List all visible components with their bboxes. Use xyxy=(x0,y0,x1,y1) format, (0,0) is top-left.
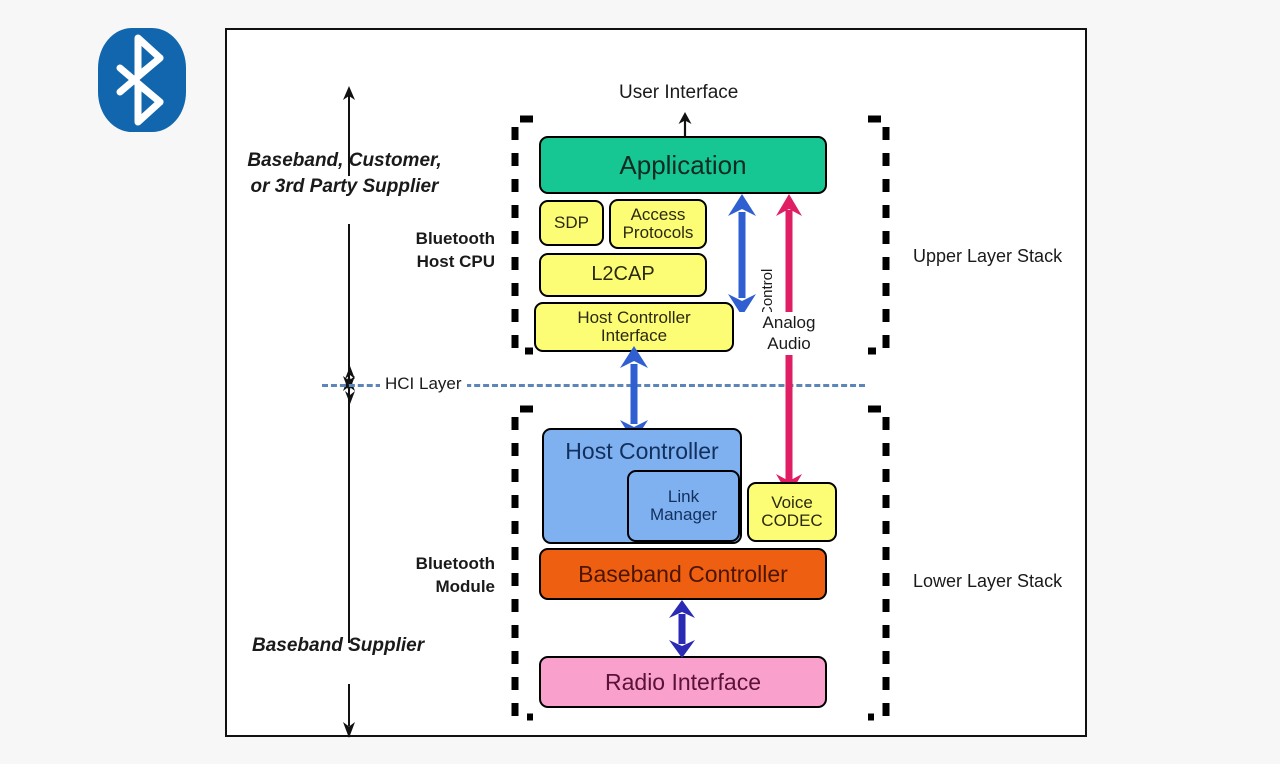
analog-audio-line2: Audio xyxy=(739,333,839,354)
bluetooth-rune-icon xyxy=(98,28,186,132)
box-link-manager[interactable]: Link Manager xyxy=(627,470,740,542)
box-access-protocols[interactable]: Access Protocols xyxy=(609,199,707,249)
analog-audio-label: Analog Audio xyxy=(739,312,839,355)
box-l2cap[interactable]: L2CAP xyxy=(539,253,707,297)
access-protocols-line2: Protocols xyxy=(623,224,694,242)
link-manager-line2: Manager xyxy=(650,506,717,524)
bluetooth-logo xyxy=(98,28,186,132)
box-baseband-controller[interactable]: Baseband Controller xyxy=(539,548,827,600)
hci-box-line1: Host Controller xyxy=(577,309,690,327)
user-interface-label: User Interface xyxy=(619,82,738,104)
bluetooth-logo-badge xyxy=(98,28,186,132)
control-arrow xyxy=(727,194,757,316)
supplier-upper-line1: Baseband, Customer, xyxy=(237,148,452,174)
module-line1: Bluetooth xyxy=(385,553,495,576)
host-cpu-line1: Bluetooth xyxy=(385,228,495,251)
baseband-radio-arrow xyxy=(667,600,697,658)
diagram-frame: User Interface Baseband, Customer, or 3r… xyxy=(225,28,1087,737)
hci-layer-label: HCI Layer xyxy=(380,374,467,394)
upper-stack-left-bracket xyxy=(503,114,537,356)
hci-box-line2: Interface xyxy=(601,327,667,345)
hci-line-crossing-marker xyxy=(339,366,361,404)
analog-audio-line1: Analog xyxy=(739,312,839,333)
supplier-upper-line2: or 3rd Party Supplier xyxy=(237,174,452,200)
lower-stack-right-bracket xyxy=(864,404,898,722)
box-sdp[interactable]: SDP xyxy=(539,200,604,246)
box-host-controller-interface[interactable]: Host Controller Interface xyxy=(534,302,734,352)
lower-supplier-span-arrow-lower xyxy=(337,684,361,738)
upper-layer-stack-label: Upper Layer Stack xyxy=(913,246,1062,267)
box-voice-codec[interactable]: Voice CODEC xyxy=(747,482,837,542)
lower-layer-stack-label: Lower Layer Stack xyxy=(913,571,1062,592)
module-line2: Module xyxy=(385,576,495,599)
upper-stack-right-bracket xyxy=(864,114,898,356)
lower-stack-left-bracket xyxy=(503,404,537,722)
voice-codec-line1: Voice xyxy=(771,494,813,512)
host-cpu-line2: Host CPU xyxy=(385,251,495,274)
bluetooth-host-cpu-label: Bluetooth Host CPU xyxy=(385,228,495,274)
box-application[interactable]: Application xyxy=(539,136,827,194)
box-radio-interface[interactable]: Radio Interface xyxy=(539,656,827,708)
supplier-upper-label: Baseband, Customer, or 3rd Party Supplie… xyxy=(237,148,452,199)
access-protocols-line1: Access xyxy=(631,206,686,224)
lower-supplier-span-arrow-upper xyxy=(337,375,361,643)
bluetooth-module-label: Bluetooth Module xyxy=(385,553,495,599)
supplier-lower-label: Baseband Supplier xyxy=(252,635,424,657)
voice-codec-line2: CODEC xyxy=(761,512,822,530)
link-manager-line1: Link xyxy=(668,488,699,506)
